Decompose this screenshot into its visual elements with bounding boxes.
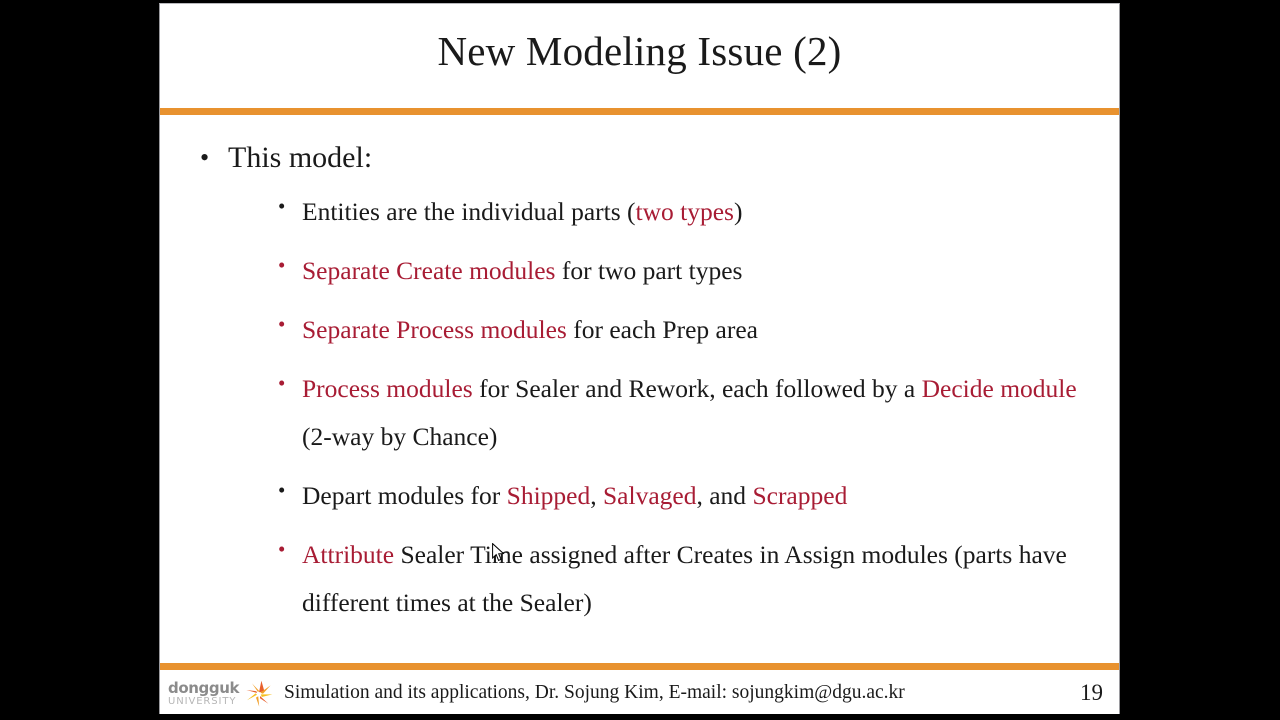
- logo-wordmark: dongguk UNIVERSITY: [168, 681, 239, 707]
- bullet-marker-icon: •: [278, 365, 302, 402]
- text-run: for Sealer and Rework, each followed by …: [473, 374, 922, 403]
- text-run: Separate Process modules: [302, 315, 567, 344]
- bullet-level2: •Separate Process modules for each Prep …: [278, 306, 1089, 354]
- bullet-marker-icon: •: [278, 306, 302, 343]
- text-run: Entities are the individual parts (: [302, 197, 636, 226]
- bullet-level2-text: Attribute Sealer Time assigned after Cre…: [302, 531, 1089, 627]
- slide-body: • This model: •Entities are the individu…: [160, 138, 1119, 638]
- slide-title: New Modeling Issue (2): [160, 28, 1119, 75]
- text-run: (2-way by Chance): [302, 422, 497, 451]
- text-run: ,: [590, 481, 603, 510]
- title-divider-rule: [160, 108, 1119, 115]
- text-run: Process modules: [302, 374, 473, 403]
- text-run: Salvaged: [603, 481, 696, 510]
- bullet-level2: •Entities are the individual parts (two …: [278, 188, 1089, 236]
- bullet-level2-list: •Entities are the individual parts (two …: [278, 188, 1089, 627]
- bullet-level1-text: This model:: [228, 138, 372, 178]
- bullet-marker-icon: •: [278, 472, 302, 509]
- footer-credit-text: Simulation and its applications, Dr. Soj…: [284, 670, 905, 714]
- footer-divider-rule: [160, 663, 1119, 670]
- bullet-level2-text: Separate Create modules for two part typ…: [302, 247, 742, 295]
- text-run: for each Prep area: [567, 315, 758, 344]
- text-run: Depart modules for: [302, 481, 507, 510]
- bullet-marker-icon: •: [200, 138, 228, 178]
- text-run: Separate Create modules: [302, 256, 555, 285]
- text-run: Decide module: [922, 374, 1077, 403]
- slide-footer: dongguk UNIVERSITY: [160, 670, 1119, 714]
- bullet-level2: •Separate Create modules for two part ty…: [278, 247, 1089, 295]
- slide-page-number: 19: [1080, 670, 1103, 714]
- bullet-level1: • This model:: [200, 138, 1089, 178]
- text-run: Shipped: [507, 481, 591, 510]
- text-run: Scrapped: [752, 481, 847, 510]
- presentation-slide: New Modeling Issue (2) • This model: •En…: [159, 3, 1120, 714]
- bullet-level2-text: Entities are the individual parts (two t…: [302, 188, 742, 236]
- bullet-marker-icon: •: [278, 247, 302, 284]
- text-run: two types: [636, 197, 734, 226]
- bullet-level2: •Attribute Sealer Time assigned after Cr…: [278, 531, 1089, 627]
- bullet-level2: •Depart modules for Shipped, Salvaged, a…: [278, 472, 1089, 520]
- bullet-level2-text: Separate Process modules for each Prep a…: [302, 306, 758, 354]
- bullet-level2-text: Process modules for Sealer and Rework, e…: [302, 365, 1089, 461]
- bullet-marker-icon: •: [278, 188, 302, 225]
- text-run: , and: [696, 481, 752, 510]
- logo-name-text: dongguk: [168, 681, 239, 696]
- dongguk-university-logo: dongguk UNIVERSITY: [168, 676, 276, 712]
- bullet-marker-icon: •: [278, 531, 302, 568]
- bullet-level2: •Process modules for Sealer and Rework, …: [278, 365, 1089, 461]
- text-run: ): [734, 197, 743, 226]
- text-run: for two part types: [555, 256, 742, 285]
- text-run: Attribute: [302, 540, 394, 569]
- logo-flower-burst-icon: [242, 678, 276, 710]
- video-viewport: New Modeling Issue (2) • This model: •En…: [0, 0, 1280, 720]
- logo-subtitle-text: UNIVERSITY: [168, 697, 239, 707]
- text-run: Sealer Time assigned after Creates in As…: [302, 540, 1067, 617]
- bullet-level2-text: Depart modules for Shipped, Salvaged, an…: [302, 472, 847, 520]
